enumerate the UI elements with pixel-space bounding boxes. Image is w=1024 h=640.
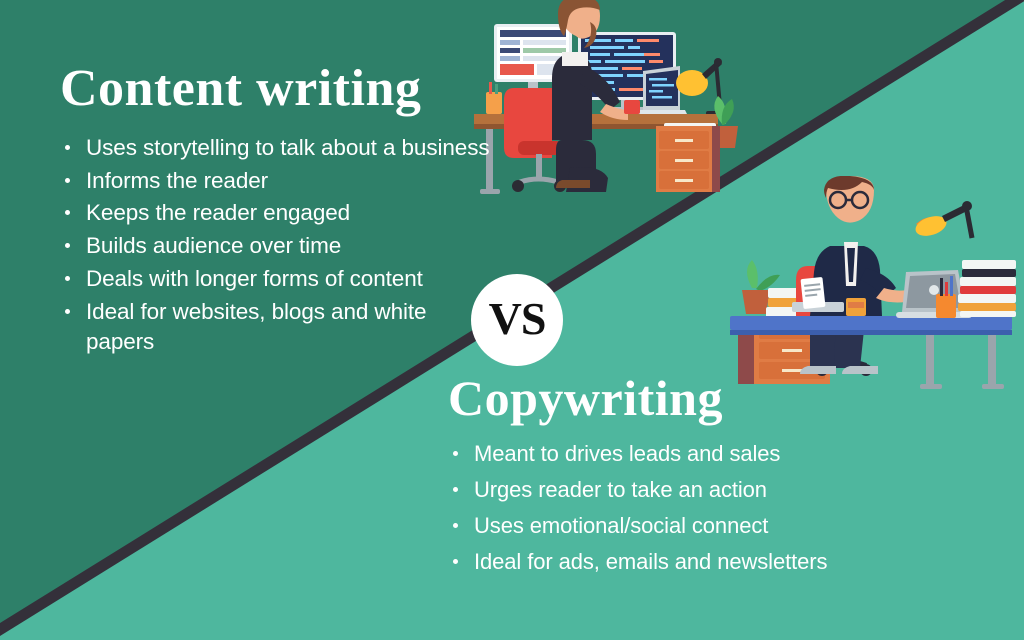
content-writing-panel: Content writing Uses storytelling to tal… [60, 62, 490, 360]
content-writing-bullet-list: Uses storytelling to talk about a busine… [60, 133, 490, 357]
vs-badge: VS [471, 274, 563, 366]
man-with-glasses-at-desk-illustration [726, 176, 1020, 392]
list-item: Uses storytelling to talk about a busine… [60, 133, 490, 163]
list-item: Deals with longer forms of content [60, 264, 490, 294]
list-item: Builds audience over time [60, 231, 490, 261]
copywriting-title: Copywriting [448, 372, 918, 425]
list-item: Uses emotional/social connect [448, 511, 918, 540]
list-item: Informs the reader [60, 166, 490, 196]
person-figure [800, 176, 906, 374]
copywriting-bullet-list: Meant to drives leads and sales Urges re… [448, 439, 918, 577]
list-item: Meant to drives leads and sales [448, 439, 918, 468]
drawer-unit-icon [656, 126, 720, 192]
person-figure [552, 0, 628, 192]
vs-badge-label: VS [489, 296, 546, 342]
copywriting-panel: Copywriting Meant to drives leads and sa… [448, 372, 918, 584]
desk-lamp-icon [913, 201, 972, 240]
mug-icon [846, 298, 866, 316]
list-item: Keeps the reader engaged [60, 198, 490, 228]
list-item: Urges reader to take an action [448, 475, 918, 504]
mug-icon [624, 100, 640, 114]
list-item: Ideal for websites, blogs and white pape… [60, 297, 490, 357]
infographic-canvas: Content writing Uses storytelling to tal… [0, 0, 1024, 640]
list-item: Ideal for ads, emails and newsletters [448, 547, 918, 576]
book-stack-icon [958, 260, 1016, 317]
man-at-desk-with-monitors-illustration [466, 0, 756, 196]
content-writing-title: Content writing [60, 62, 490, 117]
